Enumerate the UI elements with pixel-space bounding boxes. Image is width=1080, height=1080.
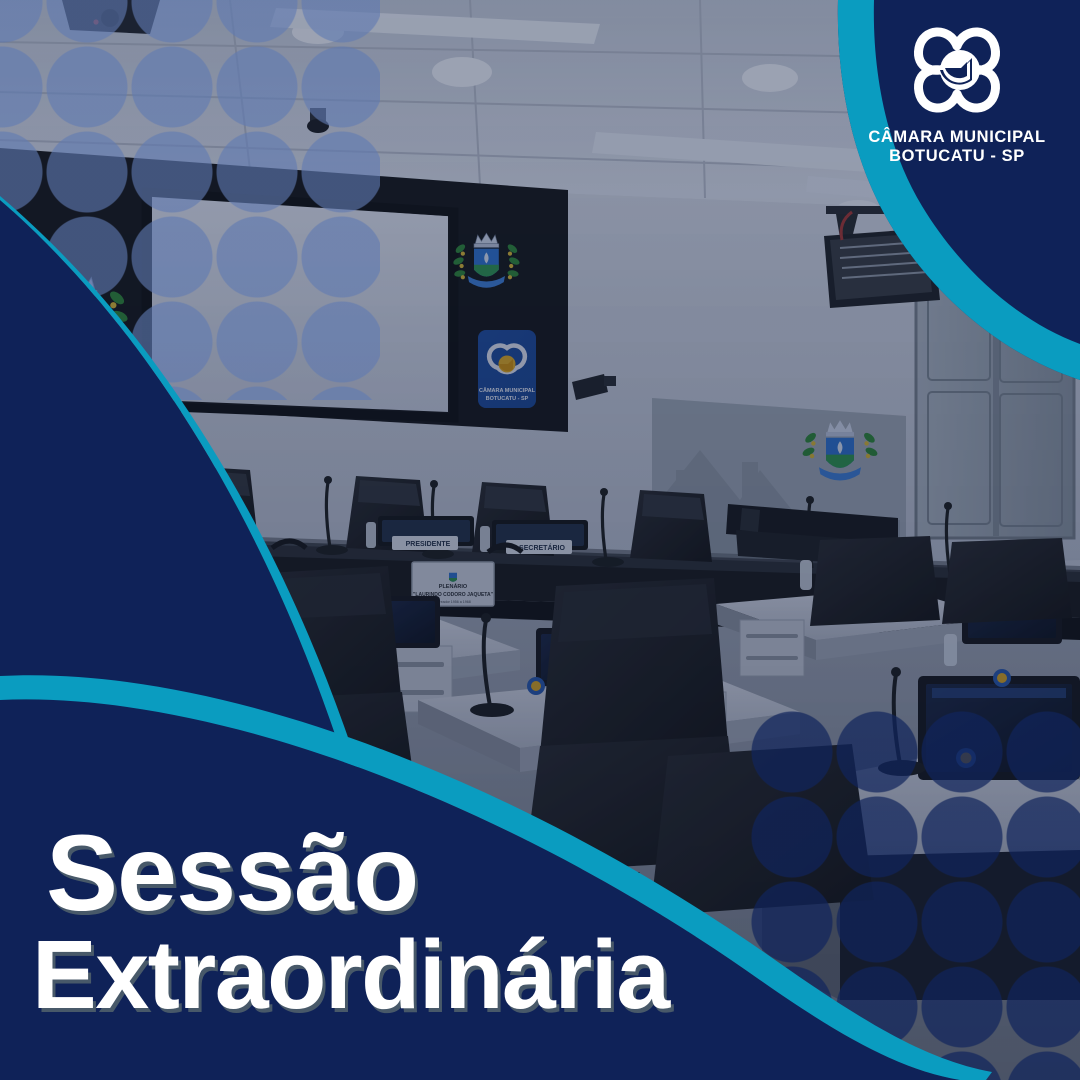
logo-line-1: CÂMARA MUNICIPAL	[868, 128, 1045, 147]
poster-title: Sessão Extraordinária	[46, 821, 669, 1022]
camara-municipal-logo: CÂMARA MUNICIPAL BOTUCATU - SP	[852, 18, 1062, 167]
camara-municipal-atom-logo-icon	[905, 18, 1009, 122]
logo-text: CÂMARA MUNICIPAL BOTUCATU - SP	[868, 128, 1045, 167]
poster-canvas: BOTUCATU	[0, 0, 1080, 1080]
logo-line-2: BOTUCATU - SP	[868, 147, 1045, 166]
title-line-1: Sessão	[46, 821, 669, 926]
title-line-2: Extraordinária	[32, 928, 669, 1022]
